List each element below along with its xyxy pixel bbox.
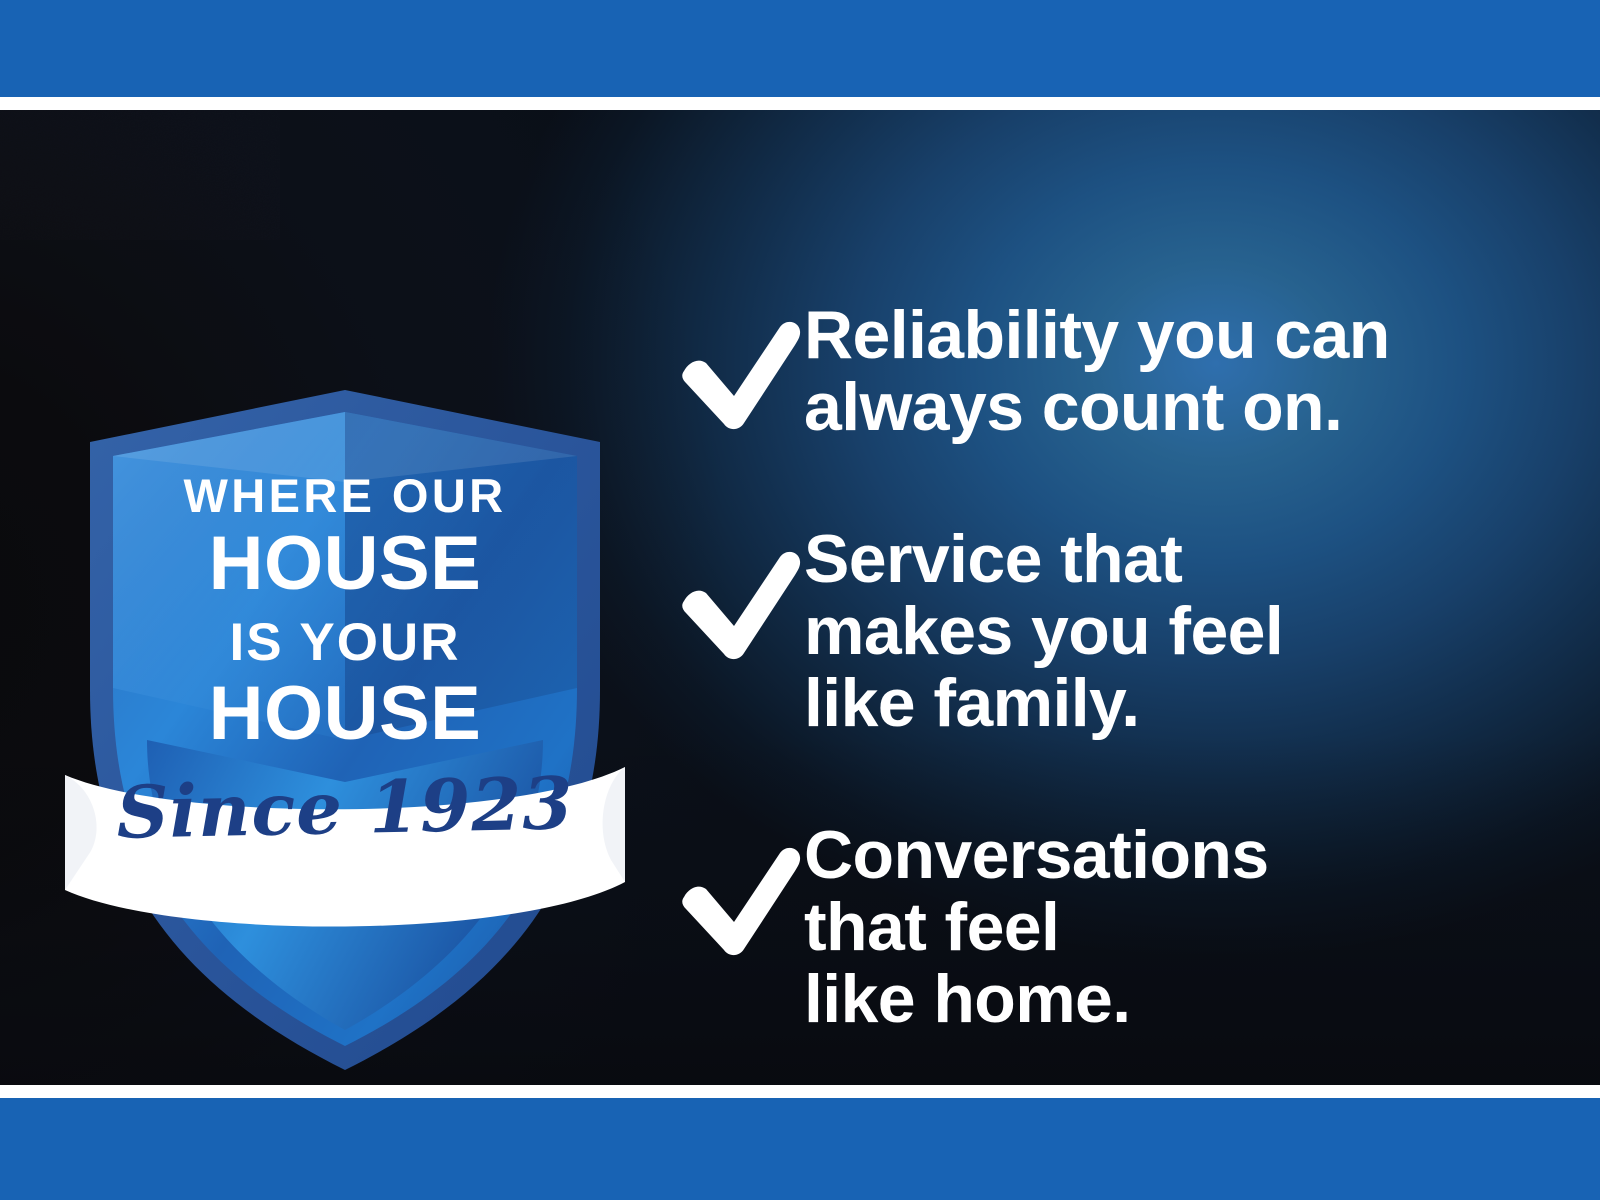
benefit-text: Service that makes you feel like family. [804, 509, 1552, 739]
benefit-text: Conversations that feel like home. [804, 805, 1552, 1035]
poster-canvas: WHERE OUR HOUSE IS YOUR HOUSE Since 1923… [0, 110, 1600, 1085]
shield-badge-icon [55, 270, 635, 1070]
shield-logo: WHERE OUR HOUSE IS YOUR HOUSE Since 1923 [55, 270, 635, 1070]
benefit-item: Conversations that feel like home. [672, 805, 1552, 1035]
checkmark-icon [672, 839, 804, 957]
grain-texture [0, 110, 280, 240]
benefit-item: Reliability you can always count on. [672, 285, 1552, 443]
benefit-item: Service that makes you feel like family. [672, 509, 1552, 739]
benefit-text: Reliability you can always count on. [804, 285, 1552, 443]
top-brand-bar [0, 0, 1600, 97]
promo-poster: WHERE OUR HOUSE IS YOUR HOUSE Since 1923… [0, 0, 1600, 1200]
bottom-brand-bar [0, 1098, 1600, 1200]
checkmark-icon [672, 313, 804, 431]
benefits-list: Reliability you can always count on. Ser… [672, 285, 1552, 1035]
checkmark-icon [672, 543, 804, 661]
